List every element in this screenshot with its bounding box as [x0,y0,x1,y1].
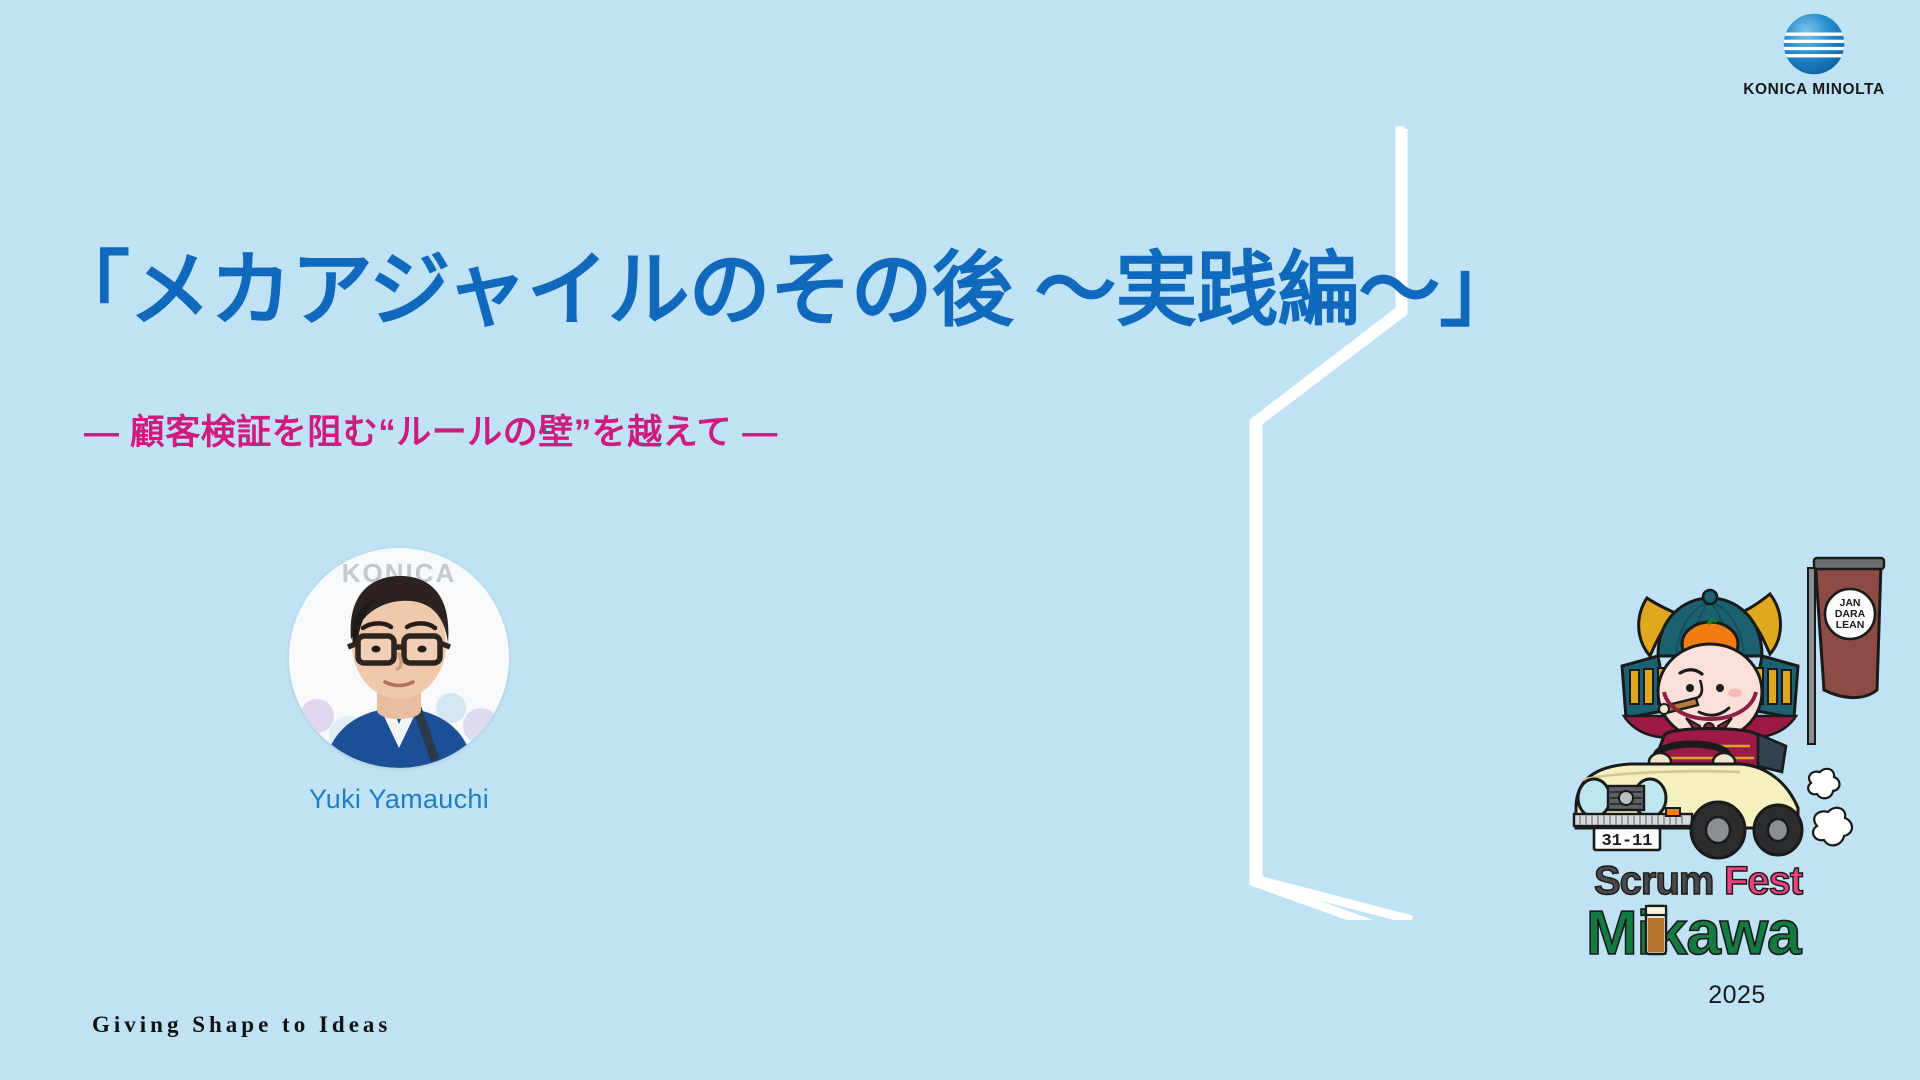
slide-subtitle: ― 顧客検証を阻む“ルールの壁”を越えて ― [84,404,778,455]
konica-minolta-globe-icon [1778,8,1850,80]
logo-word-mikawa: Mikawa [1586,899,1802,968]
logo-word-fest: Fest [1724,859,1803,903]
samurai-in-car-mascot-icon: JAN DARA LEAN [1572,540,1902,860]
slide-title: 「メカアジャイルのその後 ～実践編～」 [48,247,1520,336]
scrum-fest-mikawa-wordmark: Scrum Fest Mikawa [1572,854,1902,974]
speaker-name: Yuki Yamauchi [289,784,509,815]
svg-text:LEAN: LEAN [1836,619,1865,631]
speaker-block: KONICA [289,548,509,815]
speaker-portrait-photo-icon: KONICA [289,548,509,768]
corporate-tagline: Giving Shape to Ideas [92,1012,391,1038]
svg-text:31-11: 31-11 [1601,832,1652,851]
speaker-avatar: KONICA [289,548,509,768]
konica-minolta-logo: KONICA MINOLTA [1730,8,1898,108]
konica-minolta-wordmark: KONICA MINOLTA [1743,81,1885,99]
logo-word-scrum: Scrum [1594,859,1714,903]
scrum-fest-mikawa-block: JAN DARA LEAN [1572,540,1902,1010]
event-year: 2025 [1572,981,1902,1010]
